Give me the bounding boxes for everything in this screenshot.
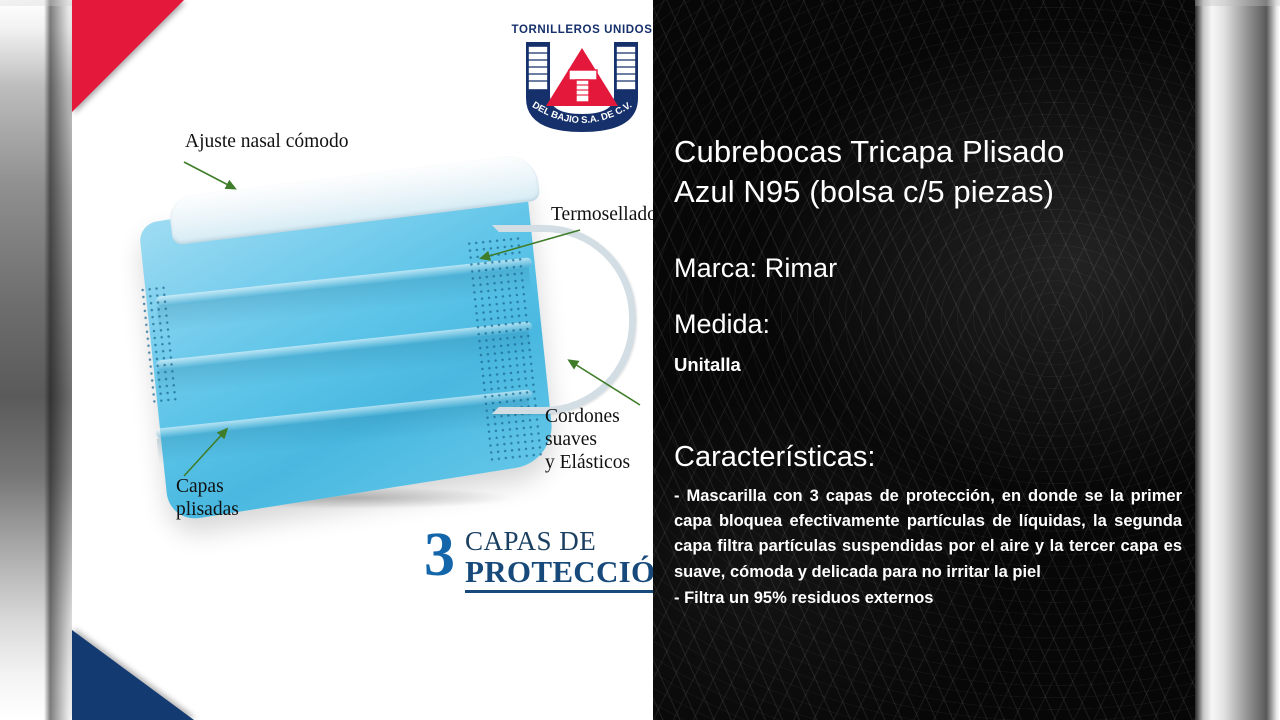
arrow-ear-cords-icon — [560, 355, 655, 415]
size-label: Medida: — [674, 309, 770, 340]
product-slide: TORNILLEROS UNIDOS — [0, 0, 1280, 720]
corner-accent-red — [72, 0, 184, 112]
feature-item-1: - Mascarilla con 3 capas de protección, … — [674, 487, 1182, 581]
badge-text-block: CAPAS DE PROTECCIÓN — [465, 527, 678, 593]
features-title: Características: — [674, 441, 875, 474]
badge-number: 3 — [424, 527, 455, 584]
badge-line-2: PROTECCIÓN — [465, 555, 678, 593]
corner-accent-navy — [72, 630, 194, 720]
arrow-nasal-icon — [182, 158, 252, 198]
badge-line-1: CAPAS DE — [465, 527, 678, 555]
annotation-nasal-fit: Ajuste nasal cómodo — [185, 130, 349, 153]
product-info-panel: Cubrebocas Tricapa Plisado Azul N95 (bol… — [653, 0, 1195, 720]
feature-item-2: - Filtra un 95% residuos externos — [674, 586, 1182, 611]
svg-text:DEL BAJIO S.A. DE C.V.: DEL BAJIO S.A. DE C.V. — [530, 100, 634, 126]
metallic-frame-left-inner — [44, 0, 72, 720]
annotation-ear-cords: Cordones suaves y Elásticos — [545, 405, 653, 474]
logo-arc-text: DEL BAJIO S.A. DE C.V. — [502, 18, 662, 140]
annotation-thermosealed: Termosellado — [551, 203, 657, 226]
arrow-thermosealed-icon — [472, 228, 587, 273]
three-layers-badge: 3 CAPAS DE PROTECCIÓN — [424, 527, 678, 593]
product-title: Cubrebocas Tricapa Plisado Azul N95 (bol… — [674, 132, 1064, 211]
company-logo: TORNILLEROS UNIDOS — [502, 18, 662, 140]
product-image-panel: TORNILLEROS UNIDOS — [72, 0, 653, 720]
metallic-frame-right — [1195, 0, 1280, 720]
arrow-pleated-layers-icon — [180, 424, 250, 484]
metallic-frame-left — [0, 0, 72, 720]
size-value: Unitalla — [674, 354, 741, 376]
product-brand: Marca: Rimar — [674, 253, 837, 284]
features-list: - Mascarilla con 3 capas de protección, … — [674, 484, 1182, 611]
product-info-content: Cubrebocas Tricapa Plisado Azul N95 (bol… — [674, 0, 1184, 720]
